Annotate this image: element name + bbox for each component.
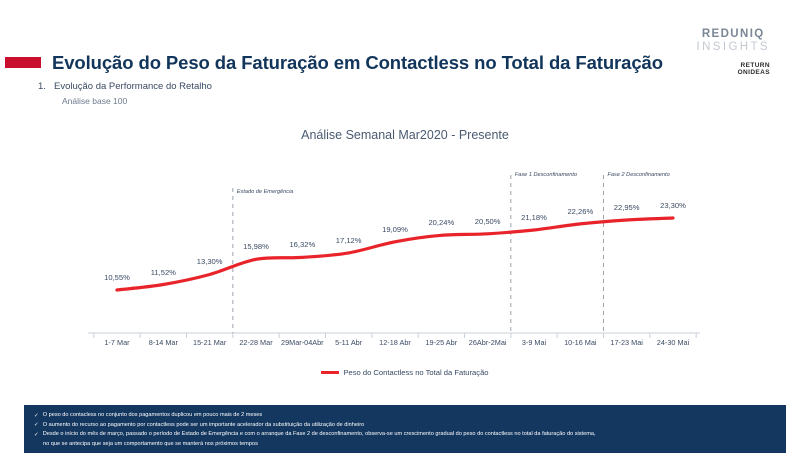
chart-x-tick-label: 5-11 Abr bbox=[335, 338, 362, 347]
chart-x-tick-label: 24-30 Mai bbox=[657, 338, 689, 347]
chart-data-label: 15,98% bbox=[243, 242, 269, 251]
chart-x-tick-label: 12-18 Abr bbox=[379, 338, 411, 347]
chart-annotation-label: Fase 2 Desconfinamento bbox=[608, 172, 670, 178]
chart-data-label: 10,55% bbox=[104, 273, 130, 282]
chart-data-label: 23,30% bbox=[660, 201, 686, 210]
chart-x-tick-label: 3-9 Mai bbox=[522, 338, 546, 347]
slide-root: Evolução do Peso da Faturação em Contact… bbox=[0, 0, 810, 456]
chart-plot-area: Estado de EmergênciaFase 1 Desconfinamen… bbox=[0, 0, 810, 456]
chart-data-label: 22,95% bbox=[614, 203, 640, 212]
chart-legend: Peso do Contactless no Total da Faturaçã… bbox=[0, 368, 810, 377]
chart-x-tick-label: 1-7 Mar bbox=[104, 338, 129, 347]
chart-annotation-label: Estado de Emergência bbox=[237, 189, 294, 195]
legend-swatch-icon bbox=[321, 371, 339, 374]
chart-annotation-label: Fase 1 Desconfinamento bbox=[515, 172, 577, 178]
chart-x-tick-label: 19-25 Abr bbox=[426, 338, 458, 347]
chart-data-label: 11,52% bbox=[151, 268, 176, 277]
chart-data-label: 22,26% bbox=[567, 207, 593, 216]
footer-bullet-text: Desde o início do mês de março, passado … bbox=[43, 430, 596, 438]
footer-bullet: ✓ O aumento do recurso ao pagamento por … bbox=[34, 421, 776, 430]
legend-series-label: Peso do Contactless no Total da Faturaçã… bbox=[343, 368, 488, 377]
chart-x-tick-label: 22-28 Mar bbox=[239, 338, 272, 347]
chart-data-label: 21,18% bbox=[521, 213, 547, 222]
footer-insights-panel: ✓ O peso do contacless no conjunto dos p… bbox=[24, 405, 786, 453]
chart-data-label: 16,32% bbox=[289, 240, 315, 249]
chart-x-tick-label: 29Mar-04Abr bbox=[281, 338, 324, 347]
chart-x-tick-label: 8-14 Mar bbox=[149, 338, 178, 347]
chart-x-tick-label: 15-21 Mar bbox=[193, 338, 226, 347]
chart-x-tick-label: 26Abr-2Mai bbox=[469, 338, 507, 347]
check-icon: ✓ bbox=[34, 411, 39, 420]
footer-bullet-text: O peso do contacless no conjunto dos pag… bbox=[43, 411, 263, 419]
check-icon: ✓ bbox=[34, 430, 39, 439]
chart-x-tick-label: 17-23 Mai bbox=[610, 338, 642, 347]
check-icon: ✓ bbox=[34, 421, 39, 430]
chart-data-label: 17,12% bbox=[336, 236, 362, 245]
chart-data-label: 19,09% bbox=[382, 225, 408, 234]
footer-bullet-continuation: no que se antecipa que seja um comportam… bbox=[34, 440, 776, 448]
chart-x-tick-label: 10-16 Mai bbox=[564, 338, 596, 347]
footer-bullet-text: O aumento do recurso ao pagamento por co… bbox=[43, 421, 365, 429]
chart-data-label: 20,50% bbox=[475, 217, 501, 226]
footer-bullet: ✓ Desde o início do mês de março, passad… bbox=[34, 430, 776, 439]
chart-data-label: 13,30% bbox=[197, 257, 223, 266]
footer-bullet: ✓ O peso do contacless no conjunto dos p… bbox=[34, 411, 776, 420]
chart-data-label: 20,24% bbox=[428, 218, 454, 227]
